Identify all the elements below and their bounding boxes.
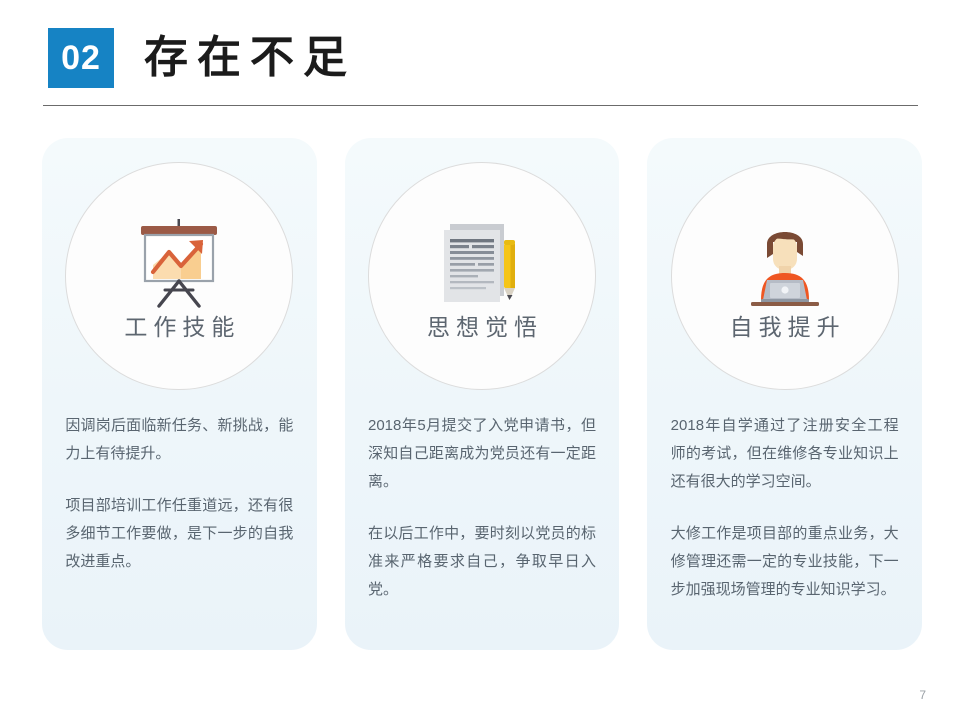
person-laptop-icon xyxy=(733,214,837,310)
card-paragraph: 2018年5月提交了入党申请书，但深知自己距离成为党员还有一定距离。 xyxy=(368,412,596,496)
card-body: 2018年5月提交了入党申请书，但深知自己距离成为党员还有一定距离。 在以后工作… xyxy=(368,412,596,604)
card-circle: 自我提升 xyxy=(671,162,899,390)
card-ideological-awareness[interactable]: 思想觉悟 2018年5月提交了入党申请书，但深知自己距离成为党员还有一定距离。 … xyxy=(345,138,620,650)
section-number-badge: 02 xyxy=(48,28,114,88)
card-circle: 工作技能 xyxy=(65,162,293,390)
page-title: 存在不足 xyxy=(144,36,356,80)
card-paragraph: 大修工作是项目部的重点业务，大修管理还需一定的专业技能，下一步加强现场管理的专业… xyxy=(671,520,899,604)
card-work-skills[interactable]: 工作技能 因调岗后面临新任务、新挑战，能力上有待提升。 项目部培训工作任重道远，… xyxy=(42,138,317,650)
presentation-board-chart-icon xyxy=(127,214,231,310)
card-paragraph: 因调岗后面临新任务、新挑战，能力上有待提升。 xyxy=(65,412,293,468)
card-paragraph: 项目部培训工作任重道远，还有很多细节工作要做，是下一步的自我改进重点。 xyxy=(65,492,293,576)
card-body: 2018年自学通过了注册安全工程师的考试，但在维修各专业知识上还有很大的学习空间… xyxy=(671,412,899,604)
cards-container: 工作技能 因调岗后面临新任务、新挑战，能力上有待提升。 项目部培训工作任重道远，… xyxy=(42,138,922,650)
page-number: 7 xyxy=(919,688,926,702)
card-body: 因调岗后面临新任务、新挑战，能力上有待提升。 项目部培训工作任重道远，还有很多细… xyxy=(65,412,293,576)
card-label: 工作技能 xyxy=(118,316,240,339)
card-label: 思想觉悟 xyxy=(421,316,543,339)
card-self-improvement[interactable]: 自我提升 2018年自学通过了注册安全工程师的考试，但在维修各专业知识上还有很大… xyxy=(647,138,922,650)
card-circle: 思想觉悟 xyxy=(368,162,596,390)
card-paragraph: 2018年自学通过了注册安全工程师的考试，但在维修各专业知识上还有很大的学习空间… xyxy=(671,412,899,496)
slide-header: 02 存在不足 xyxy=(48,28,356,88)
document-pencil-icon xyxy=(430,214,534,310)
card-paragraph: 在以后工作中，要时刻以党员的标准来严格要求自己，争取早日入党。 xyxy=(368,520,596,604)
card-label: 自我提升 xyxy=(724,316,846,339)
header-divider xyxy=(43,105,918,106)
slide: 02 存在不足 xyxy=(0,0,960,720)
